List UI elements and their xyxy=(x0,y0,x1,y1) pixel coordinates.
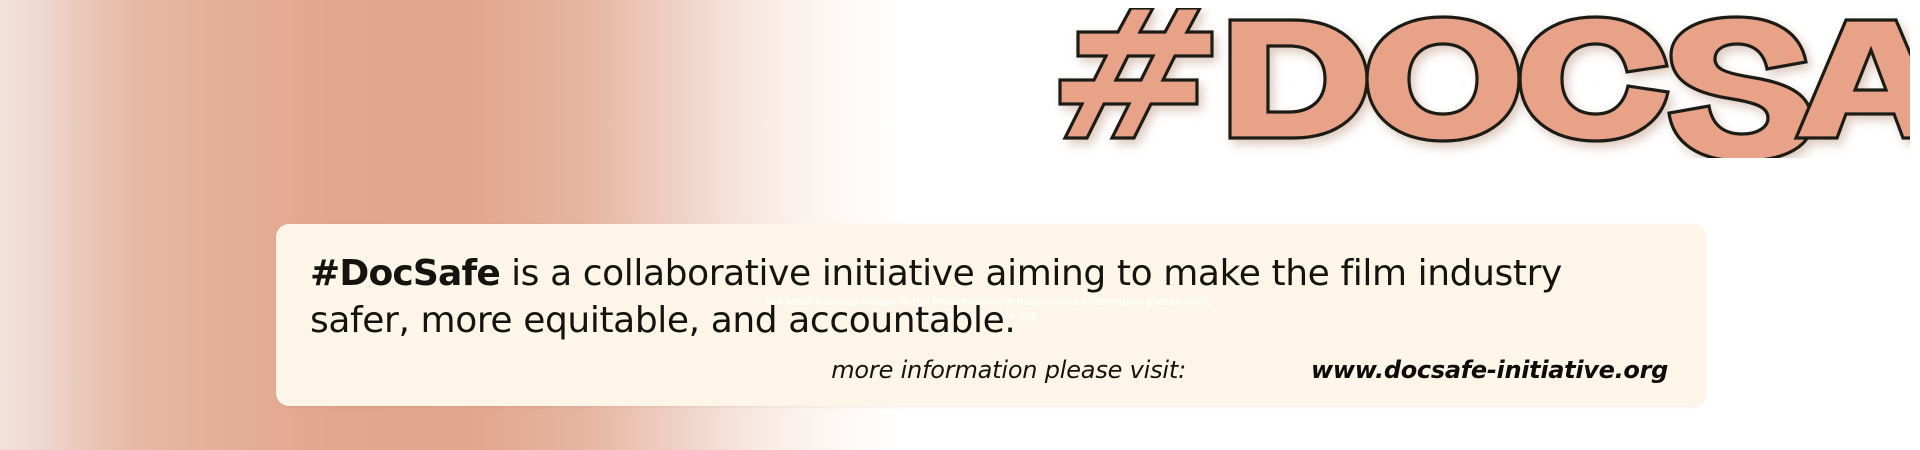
website-link[interactable]: www.docsafe-initiative.org xyxy=(1311,356,1668,384)
footer-note: more information please visit: xyxy=(831,356,1186,384)
docsafe-logo xyxy=(1030,8,1910,158)
docsafe-banner: We Must Address Abuse in the Documentary… xyxy=(0,0,1920,450)
card-footer: more information please visit: www.docsa… xyxy=(310,356,1672,384)
docsafe-wordmark-icon xyxy=(1030,8,1910,158)
headline: #DocSafe is a collaborative initiative a… xyxy=(310,250,1672,344)
brand-name: #DocSafe xyxy=(310,253,500,294)
info-card: We Must Address Abuse in the Documentary… xyxy=(276,224,1706,406)
